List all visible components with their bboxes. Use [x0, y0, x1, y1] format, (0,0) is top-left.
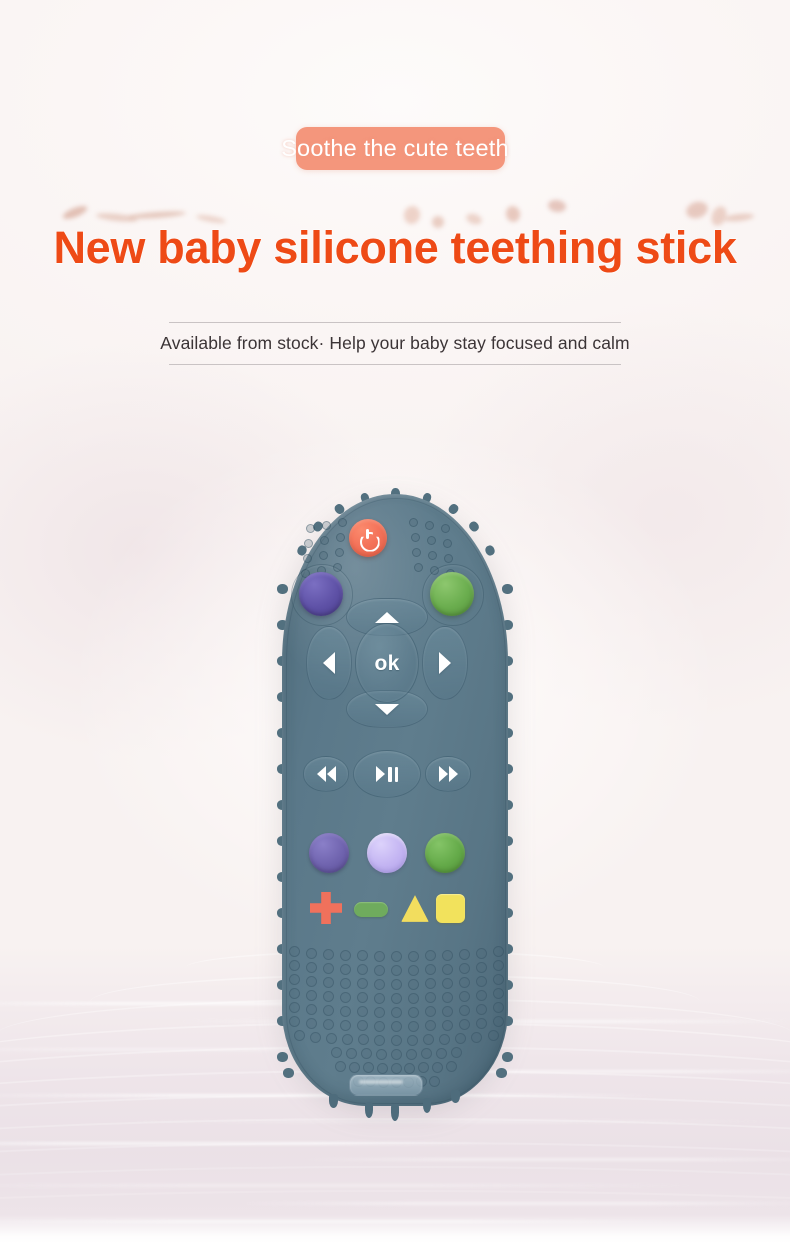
texture-dot — [488, 1030, 499, 1041]
texture-dot — [335, 1061, 346, 1072]
remote-foot — [423, 1098, 431, 1113]
power-icon — [359, 529, 378, 548]
silicone-nub — [502, 1052, 513, 1062]
texture-dot — [459, 1019, 470, 1030]
texture-dot — [391, 1007, 402, 1018]
texture-dot — [306, 948, 317, 959]
texture-dot — [340, 1006, 351, 1017]
right-arrow-icon — [439, 652, 451, 674]
water-bottom-fade — [0, 1214, 790, 1244]
texture-dot — [310, 1032, 321, 1043]
texture-dot — [427, 536, 436, 545]
brush-mark — [128, 210, 186, 220]
water-streak — [240, 1202, 790, 1205]
texture-dot — [374, 965, 385, 976]
texture-dot — [391, 965, 402, 976]
texture-dot — [357, 992, 368, 1003]
texture-dot — [357, 1006, 368, 1017]
texture-dot — [358, 1034, 369, 1045]
media-controls — [303, 750, 469, 796]
texture-dot — [391, 1063, 402, 1074]
texture-dot — [493, 1002, 504, 1013]
texture-dot — [423, 1034, 434, 1045]
texture-dot — [425, 1020, 436, 1031]
dpad-ok-button[interactable]: ok — [355, 623, 419, 703]
fast-forward-button[interactable] — [425, 756, 471, 792]
green-small-button[interactable] — [425, 833, 465, 873]
texture-dot — [323, 1005, 334, 1016]
silicone-nub — [277, 1052, 288, 1062]
silicone-nub — [484, 544, 496, 557]
texture-dot — [476, 1004, 487, 1015]
texture-dot — [442, 964, 453, 975]
texture-dot — [335, 548, 344, 557]
texture-dot — [459, 991, 470, 1002]
up-arrow-icon — [375, 612, 399, 623]
texture-dot — [451, 1047, 462, 1058]
texture-dot — [408, 1007, 419, 1018]
tagline-text: Soothe the cute teeth — [0, 130, 790, 167]
shape-button-row — [310, 891, 462, 927]
dpad: ok — [306, 598, 466, 726]
left-arrow-icon — [323, 652, 335, 674]
rewind-button[interactable] — [303, 756, 349, 792]
texture-dot — [326, 1033, 337, 1044]
texture-dot — [306, 524, 315, 533]
texture-dot — [408, 965, 419, 976]
rewind-icon — [317, 766, 336, 782]
texture-dot — [408, 951, 419, 962]
triangle-shape-button[interactable] — [400, 894, 430, 923]
texture-dot — [323, 1019, 334, 1030]
down-arrow-icon — [375, 704, 399, 715]
texture-dot — [439, 1034, 450, 1045]
silicone-nub — [502, 584, 513, 594]
texture-dot — [425, 992, 436, 1003]
texture-dot — [323, 991, 334, 1002]
brush-mark — [684, 199, 710, 221]
color-button-row — [309, 833, 465, 873]
texture-dot — [391, 1021, 402, 1032]
play-pause-button[interactable] — [353, 750, 421, 798]
texture-dot — [357, 950, 368, 961]
texture-dot — [459, 963, 470, 974]
texture-dot — [442, 978, 453, 989]
texture-dot — [425, 964, 436, 975]
texture-dot — [455, 1033, 466, 1044]
texture-dot — [340, 992, 351, 1003]
plus-shape-button[interactable] — [310, 892, 342, 924]
texture-dot — [409, 518, 418, 527]
texture-dot — [331, 1047, 342, 1058]
texture-dot — [374, 979, 385, 990]
remote-foot — [451, 1090, 460, 1103]
minus-shape-button[interactable] — [354, 902, 388, 917]
ripple-ring — [0, 1166, 790, 1244]
texture-dot — [374, 1035, 385, 1046]
texture-dot — [294, 1030, 305, 1041]
silicone-nub — [467, 520, 480, 533]
texture-dot — [471, 1032, 482, 1043]
texture-dot — [446, 1061, 457, 1072]
texture-dot — [406, 1049, 417, 1060]
water-streak — [0, 1220, 680, 1223]
subtitle-text: Available from stock· Help your baby sta… — [0, 323, 790, 364]
ripple-ring — [0, 1142, 790, 1244]
remote-foot — [365, 1102, 373, 1118]
texture-dot — [306, 976, 317, 987]
texture-dot — [342, 1034, 353, 1045]
texture-dot — [418, 1062, 429, 1073]
texture-dot — [357, 978, 368, 989]
display-window-glint — [359, 1080, 403, 1084]
texture-dot — [407, 1035, 418, 1046]
teething-remote-product: ok — [273, 488, 517, 1116]
texture-dot — [340, 1020, 351, 1031]
texture-dot — [425, 1006, 436, 1017]
texture-dot — [476, 1018, 487, 1029]
square-shape-button[interactable] — [436, 894, 465, 923]
texture-dot — [442, 950, 453, 961]
texture-dot — [476, 990, 487, 1001]
texture-dot — [459, 977, 470, 988]
water-streak — [300, 1158, 790, 1161]
texture-dot — [306, 990, 317, 1001]
power-button[interactable] — [349, 519, 387, 557]
texture-dot — [493, 946, 504, 957]
texture-dot — [374, 951, 385, 962]
brush-mark — [504, 205, 521, 224]
texture-dot — [408, 993, 419, 1004]
texture-dot — [391, 951, 402, 962]
texture-dot — [363, 1062, 374, 1073]
texture-dot — [319, 551, 328, 560]
texture-dot — [459, 949, 470, 960]
water-streak — [0, 1184, 700, 1187]
texture-dot — [391, 1035, 402, 1046]
lavender-button[interactable] — [367, 833, 407, 873]
texture-dot — [323, 963, 334, 974]
texture-dot — [289, 988, 300, 999]
texture-dot — [442, 1006, 453, 1017]
texture-dot — [442, 992, 453, 1003]
texture-dot — [289, 1002, 300, 1013]
ripple-ring — [0, 1118, 790, 1244]
texture-dot — [304, 539, 313, 548]
texture-dot — [425, 950, 436, 961]
texture-dot — [340, 964, 351, 975]
silicone-nub — [277, 584, 288, 594]
texture-dot — [374, 1021, 385, 1032]
texture-dot — [436, 1048, 447, 1059]
texture-dot — [493, 960, 504, 971]
fast-forward-icon — [439, 766, 458, 782]
texture-dot — [289, 974, 300, 985]
texture-dot — [340, 950, 351, 961]
texture-dot — [336, 533, 345, 542]
texture-dot — [306, 962, 317, 973]
texture-dot — [411, 533, 420, 542]
texture-dot — [476, 962, 487, 973]
texture-dot — [303, 554, 312, 563]
texture-dot — [493, 974, 504, 985]
texture-dot — [391, 1049, 402, 1060]
texture-dot — [441, 524, 450, 533]
texture-dot — [323, 977, 334, 988]
texture-dot — [306, 1004, 317, 1015]
texture-dot — [377, 1063, 388, 1074]
texture-dot — [323, 949, 334, 960]
texture-dot — [306, 1018, 317, 1029]
texture-dot — [425, 978, 436, 989]
remote-foot — [391, 1104, 399, 1121]
brush-mark — [547, 199, 566, 213]
texture-dot — [322, 521, 331, 530]
texture-dot — [414, 563, 423, 572]
texture-dot — [361, 1048, 372, 1059]
product-banner: Soothe the cute teeth New baby silicone … — [0, 0, 790, 1244]
ok-label: ok — [374, 653, 399, 674]
texture-dot — [459, 1005, 470, 1016]
dpad-right-button[interactable] — [422, 626, 468, 700]
texture-dot — [429, 1076, 440, 1087]
texture-dot — [376, 1049, 387, 1060]
texture-dot — [444, 554, 453, 563]
texture-dot — [493, 988, 504, 999]
texture-dot — [442, 1020, 453, 1031]
water-streak — [0, 1142, 500, 1145]
texture-dot — [443, 539, 452, 548]
page-title: New baby silicone teething stick — [0, 222, 790, 274]
brush-mark — [61, 203, 88, 221]
subtitle-block: Available from stock· Help your baby sta… — [0, 322, 790, 365]
ripple-ring — [0, 1190, 790, 1244]
texture-dot — [340, 978, 351, 989]
texture-dot — [425, 521, 434, 530]
texture-dot — [374, 993, 385, 1004]
slate-purple-button[interactable] — [309, 833, 349, 873]
texture-dot — [357, 964, 368, 975]
texture-dot — [374, 1007, 385, 1018]
texture-dot — [357, 1020, 368, 1031]
texture-dot — [408, 979, 419, 990]
texture-dot — [421, 1048, 432, 1059]
texture-dot — [391, 993, 402, 1004]
texture-dot — [428, 551, 437, 560]
dpad-left-button[interactable] — [306, 626, 352, 700]
texture-dot — [408, 1021, 419, 1032]
texture-dot — [349, 1062, 360, 1073]
display-window — [349, 1074, 423, 1096]
texture-dot — [289, 1016, 300, 1027]
texture-dot — [346, 1048, 357, 1059]
divider-bottom — [169, 364, 621, 365]
texture-dot — [412, 548, 421, 557]
texture-dot — [289, 946, 300, 957]
texture-dot — [432, 1062, 443, 1073]
textured-dot-field — [291, 940, 499, 1092]
play-pause-icon — [376, 766, 398, 782]
texture-dot — [320, 536, 329, 545]
texture-dot — [476, 976, 487, 987]
texture-dot — [476, 948, 487, 959]
remote-foot — [329, 1094, 338, 1108]
texture-dot — [404, 1063, 415, 1074]
texture-dot — [391, 979, 402, 990]
water-streak — [120, 1120, 780, 1123]
texture-dot — [338, 518, 347, 527]
texture-dot — [289, 960, 300, 971]
texture-dot — [493, 1016, 504, 1027]
